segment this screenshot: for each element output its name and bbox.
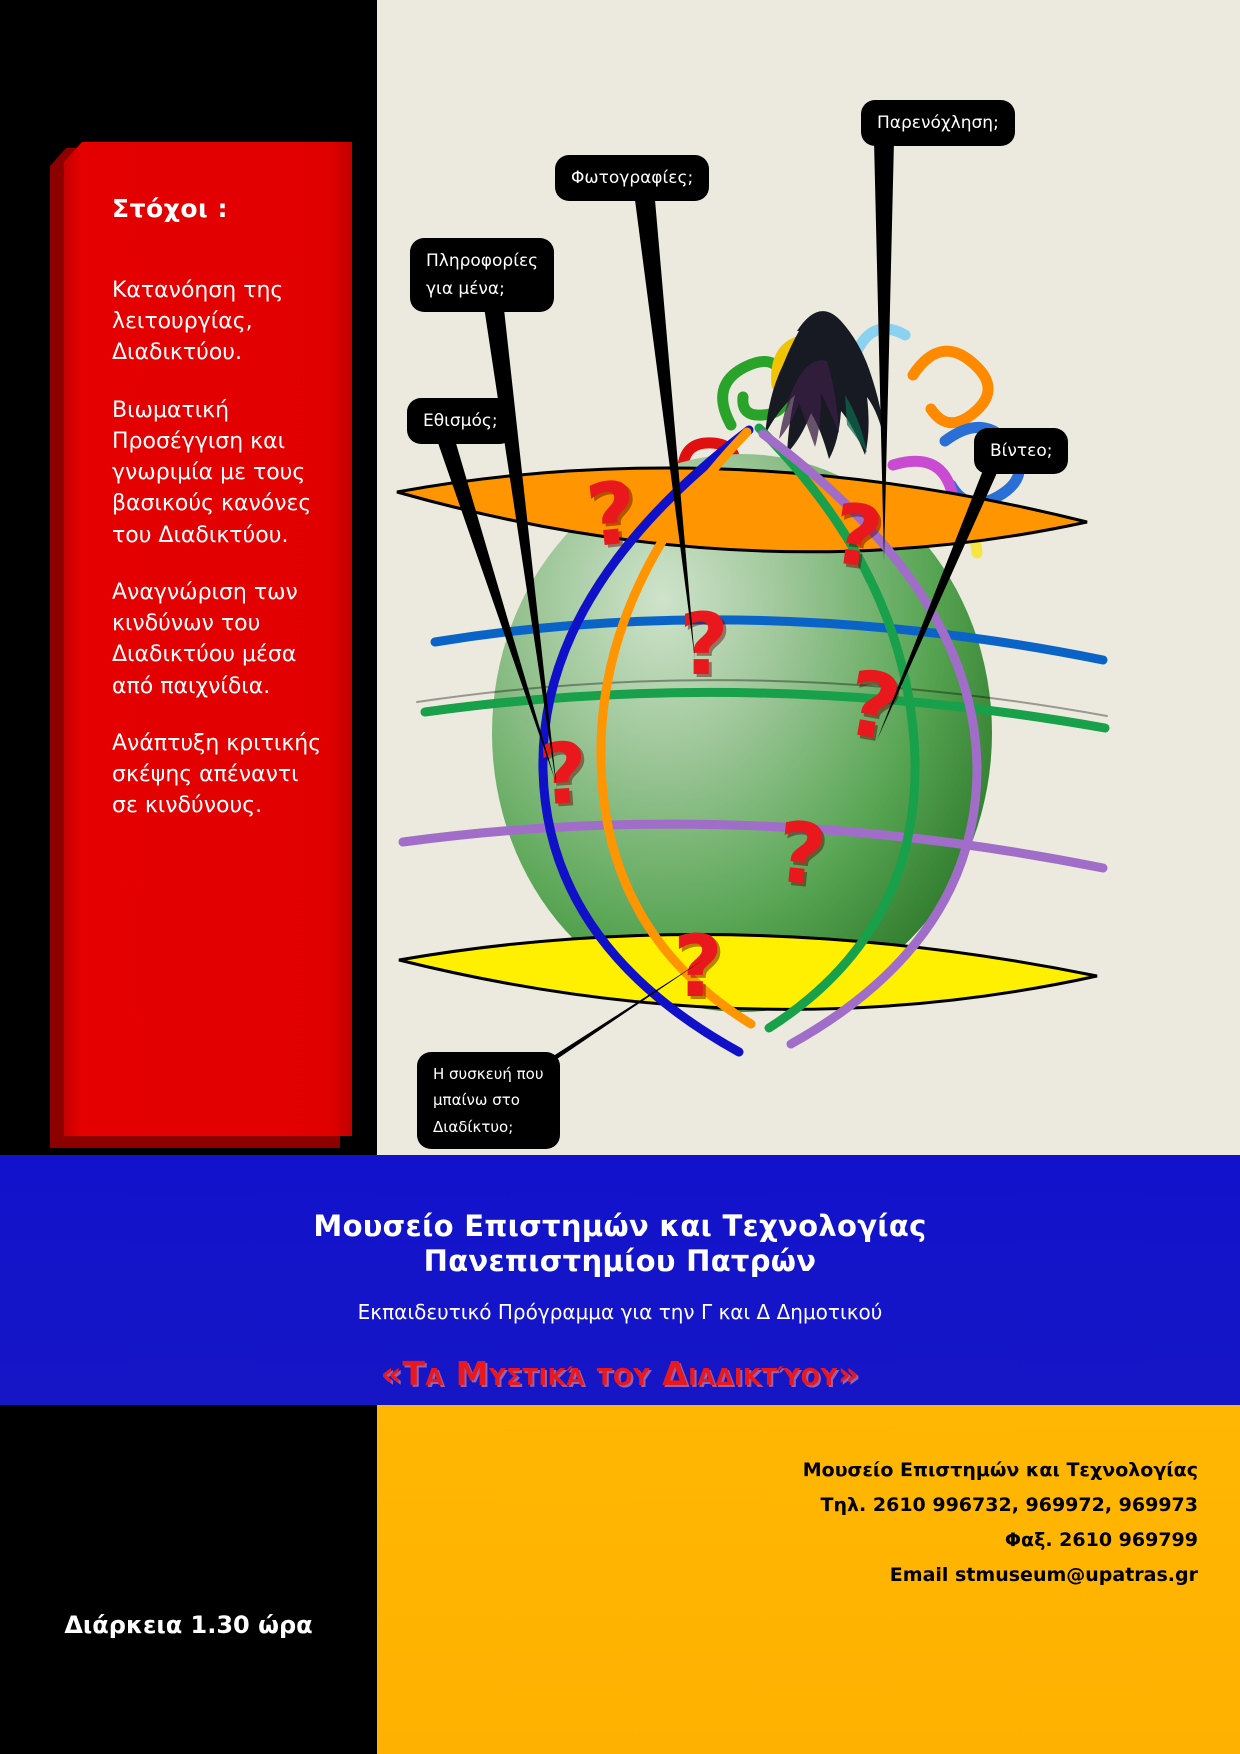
bubble-photos[interactable]: Φωτογραφίες; bbox=[555, 155, 709, 201]
illustration-canvas: ? ? ? ? ? ? ? bbox=[377, 0, 1240, 1155]
objective-item: Αναγνώριση των κινδύνων του Διαδικτύου μ… bbox=[112, 577, 326, 702]
objectives-panel: Στόχοι : Κατανόηση της λειτουργίας, Διαδ… bbox=[64, 142, 352, 1136]
bubble-addiction[interactable]: Εθισμός; bbox=[407, 398, 514, 444]
contact-phone: Τηλ. 2610 996732, 969972, 969973 bbox=[377, 1488, 1198, 1523]
bubble-pointers bbox=[377, 0, 1240, 1155]
program-subtitle: Εκπαιδευτικό Πρόγραμμα για την Γ και Δ Δ… bbox=[0, 1300, 1240, 1324]
org-line-2: Πανεπιστημίου Πατρών bbox=[424, 1244, 817, 1278]
bubble-video[interactable]: Βίντεο; bbox=[974, 428, 1068, 474]
objective-item: Κατανόηση της λειτουργίας, Διαδικτύου. bbox=[112, 275, 326, 369]
contact-email[interactable]: Email stmuseum@upatras.gr bbox=[377, 1558, 1198, 1593]
footer-blue-band: Μουσείο Επιστημών και Τεχνολογίας Πανεπι… bbox=[0, 1155, 1240, 1405]
objective-item: Ανάπτυξη κριτικής σκέψης απέναντι σε κιν… bbox=[112, 728, 326, 822]
objectives-list: Κατανόηση της λειτουργίας, Διαδικτύου. Β… bbox=[112, 275, 326, 822]
program-title: «Τα Μυστικά του Διαδικτύου» bbox=[0, 1354, 1240, 1393]
contact-museum-name: Μουσείο Επιστημών και Τεχνολογίας bbox=[377, 1453, 1198, 1488]
bubble-info-about-me[interactable]: Πληροφορίες για μένα; bbox=[410, 238, 554, 312]
contact-info-box: Μουσείο Επιστημών και Τεχνολογίας Τηλ. 2… bbox=[377, 1405, 1240, 1754]
objectives-title: Στόχοι : bbox=[112, 194, 326, 223]
poster-root: ? ? ? ? ? ? ? bbox=[0, 0, 1240, 1754]
organization-name: Μουσείο Επιστημών και Τεχνολογίας Πανεπι… bbox=[0, 1155, 1240, 1280]
org-line-1: Μουσείο Επιστημών και Τεχνολογίας bbox=[313, 1209, 926, 1243]
duration-label: Διάρκεια 1.30 ώρα bbox=[0, 1405, 377, 1754]
bubble-device[interactable]: Η συσκευή που μπαίνω στο Διαδίκτυο; bbox=[417, 1052, 560, 1149]
objective-item: Βιωματική Προσέγγιση και γνωριμία με του… bbox=[112, 395, 326, 551]
contact-fax: Φαξ. 2610 969799 bbox=[377, 1523, 1198, 1558]
bubble-harassment[interactable]: Παρενόχληση; bbox=[861, 100, 1015, 146]
